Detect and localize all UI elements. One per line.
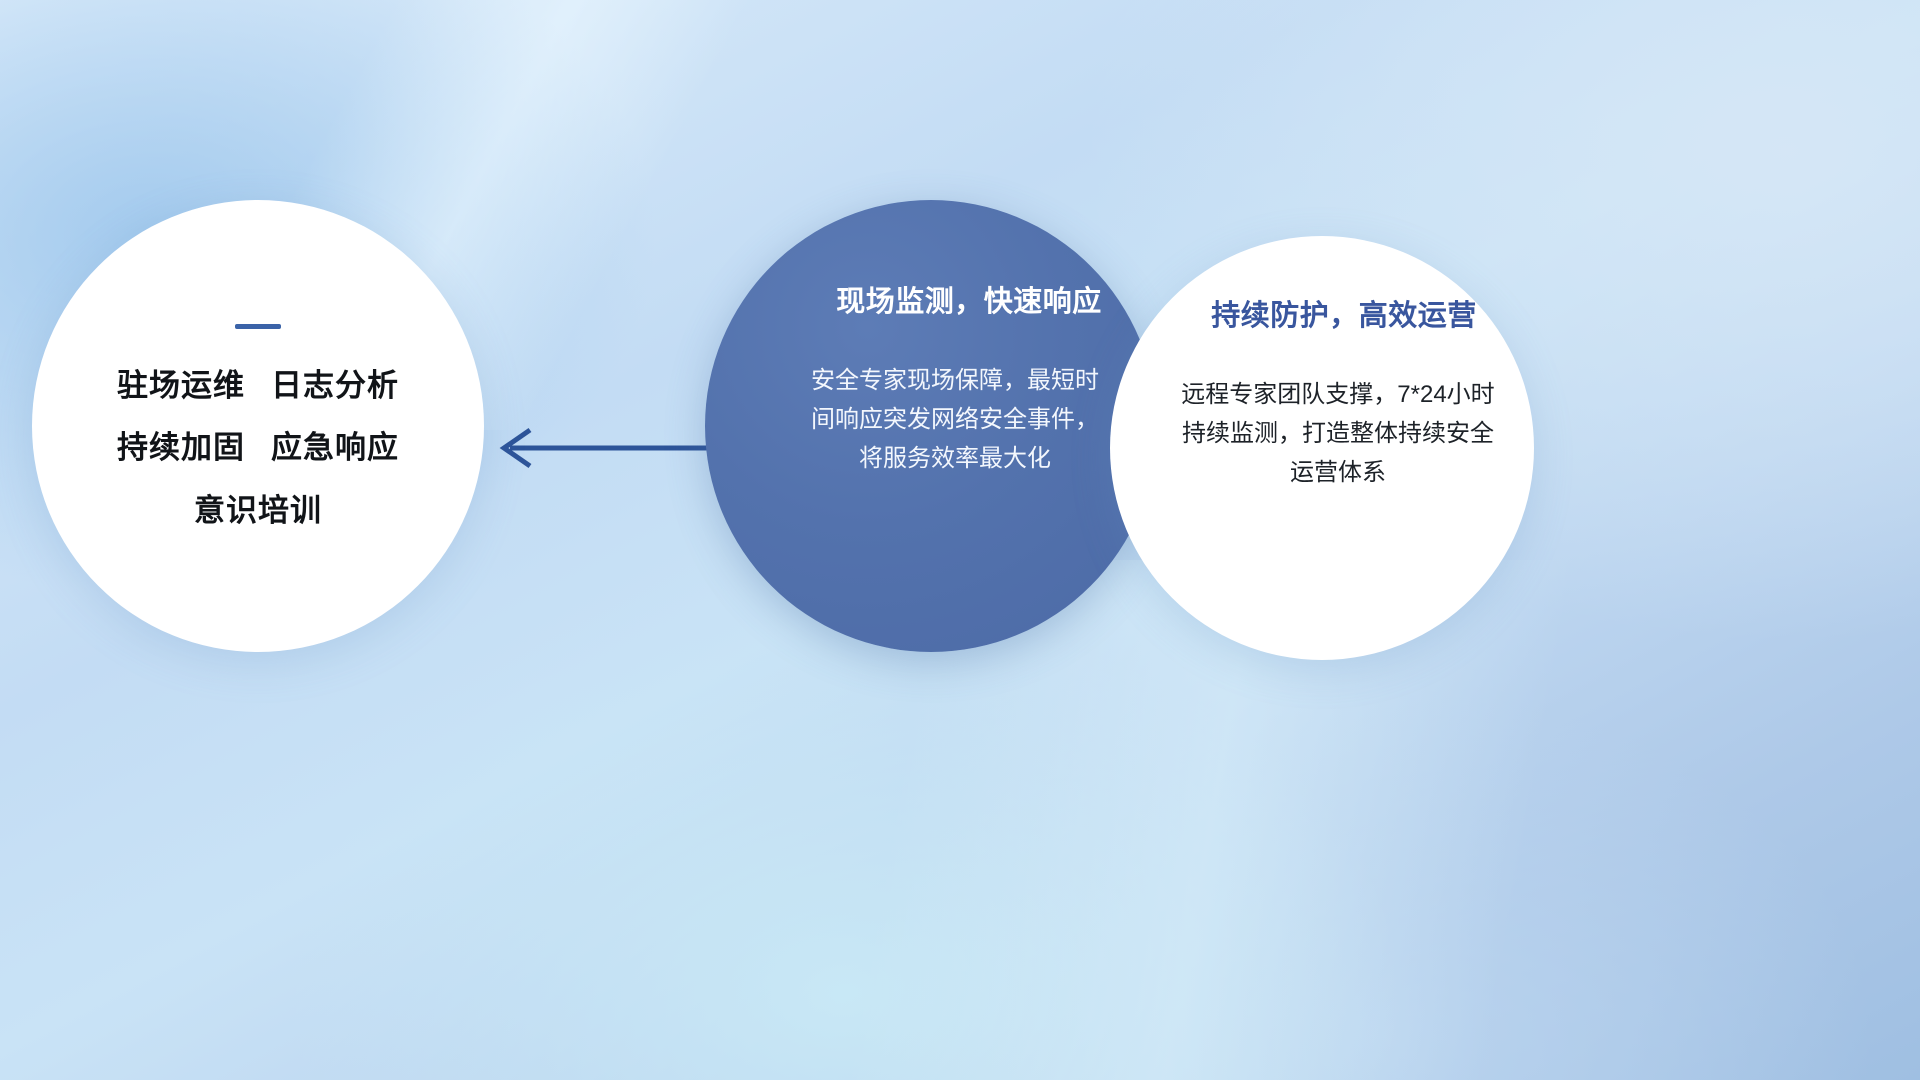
onsite-monitoring-body: 安全专家现场保障，最短时间响应突发网络安全事件，将服务效率最大化 — [805, 362, 1105, 479]
continuous-protection-body: 远程专家团队支撑，7*24小时持续监测，打造整体持续安全运营体系 — [1173, 376, 1503, 493]
continuous-protection-circle: 持续防护，高效运营 远程专家团队支撑，7*24小时持续监测，打造整体持续安全运营… — [1110, 236, 1534, 660]
title-divider-rule — [235, 324, 281, 329]
capability-tag-awareness-training: 意识培训 — [194, 493, 322, 528]
capability-row-2: 持续加固应急响应 — [117, 431, 399, 465]
onsite-monitoring-circle: 现场监测，快速响应 安全专家现场保障，最短时间响应突发网络安全事件，将服务效率最… — [705, 200, 1157, 652]
capability-row-1: 驻场运维日志分析 — [117, 369, 399, 403]
capability-row-3: 意识培训 — [194, 494, 322, 528]
capability-tag-emergency-response: 应急响应 — [271, 430, 399, 465]
flow-arrow — [486, 418, 714, 478]
service-capability-circle: 驻场运维日志分析 持续加固应急响应 意识培训 — [32, 200, 484, 652]
continuous-protection-title: 持续防护，高效运营 — [1211, 292, 1477, 334]
capability-tag-continuous-hardening: 持续加固 — [117, 430, 245, 465]
capability-tag-onsite-ops: 驻场运维 — [117, 368, 245, 403]
slide-canvas: 驻场运维日志分析 持续加固应急响应 意识培训 现场监测，快速响应 安全专家现场保… — [0, 0, 1920, 1080]
capability-tag-log-analysis: 日志分析 — [271, 368, 399, 403]
onsite-monitoring-title: 现场监测，快速响应 — [836, 278, 1102, 320]
